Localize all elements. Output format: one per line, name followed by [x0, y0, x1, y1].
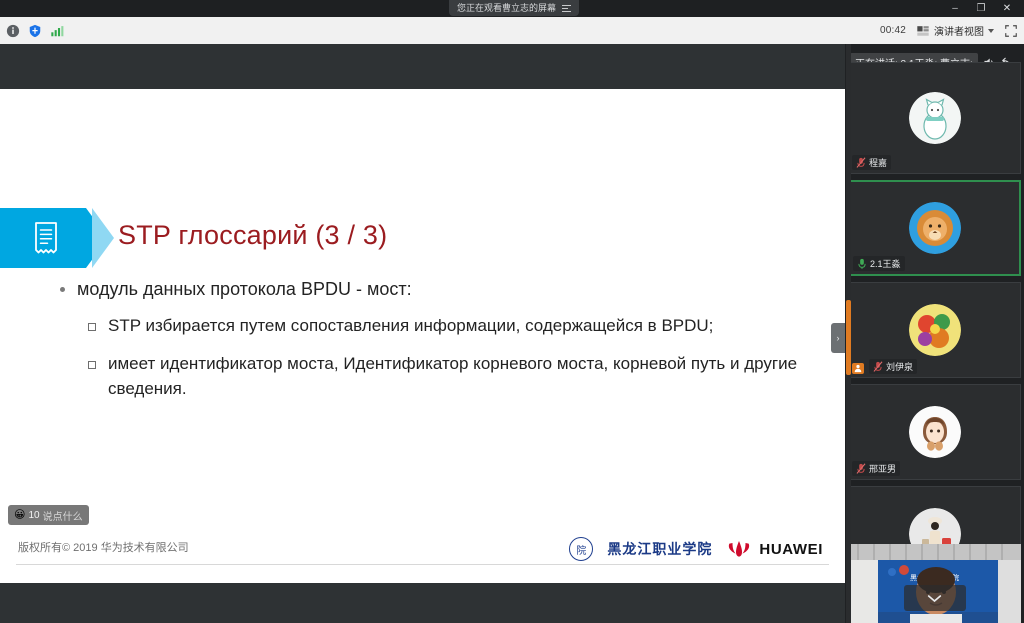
- hamburger-menu-icon[interactable]: [562, 5, 571, 12]
- participant-name: 2.1王淼: [870, 257, 901, 270]
- participant-name-badge: 刘伊泉: [869, 359, 917, 374]
- mic-muted-icon: [856, 157, 866, 168]
- avatar: [909, 406, 961, 458]
- lion-avatar-icon: [909, 202, 961, 254]
- speaker-view-icon: [916, 24, 930, 38]
- sidebar-collapse-handle[interactable]: ›: [831, 323, 845, 353]
- participants-sidebar[interactable]: 正在讲话: 2.1王淼; 曹立志;: [845, 44, 1024, 623]
- document-icon: [33, 222, 59, 254]
- chat-count: 10: [28, 510, 39, 521]
- avatar: [909, 92, 961, 144]
- school-seal-icon: 院: [569, 537, 593, 561]
- window-controls: – ❐ ✕: [942, 0, 1020, 17]
- girl-avatar-icon: [909, 406, 961, 458]
- hand-raised-icon: [852, 363, 864, 374]
- avatar: [909, 202, 961, 254]
- self-video-tile[interactable]: 黑龙江职业学院: [848, 544, 1021, 623]
- avatar: [909, 304, 961, 356]
- title-banner-chevron-outline: [92, 208, 114, 268]
- title-bar: 您正在观看曹立志的屏幕 – ❐ ✕: [0, 0, 1024, 17]
- bullet-square-icon: [88, 323, 96, 331]
- bullet-text: STP избирается путем сопоставления инфор…: [108, 314, 713, 339]
- participant-tile[interactable]: 邢亚男: [848, 384, 1021, 480]
- chevron-down-icon[interactable]: [988, 29, 994, 33]
- participant-name: 邢亚男: [869, 462, 896, 475]
- toolbar: 00:42 演讲者视图: [0, 17, 1024, 45]
- bullet-level1: модуль данных протокола BPDU - мост:: [60, 277, 800, 301]
- huawei-flower-icon: [726, 540, 752, 558]
- footer-logos: 院 黑龙江职业学院 HUAWEI: [569, 537, 823, 561]
- meeting-timer: 00:42: [880, 25, 906, 36]
- bullet-square-icon: [88, 361, 96, 369]
- shared-screen-stage[interactable]: STP глоссарий (3 / 3) модуль данных прот…: [0, 44, 845, 623]
- school-logo-text: 黑龙江职业学院: [607, 539, 712, 559]
- participant-name: 程嘉: [869, 156, 887, 169]
- raised-hand-glyph: [853, 364, 863, 373]
- participant-tiles: 程嘉: [845, 44, 1024, 623]
- chevron-down-icon: [927, 594, 942, 603]
- live-video-feed: 黑龙江职业学院: [848, 544, 1021, 623]
- participant-name-badge: 程嘉: [852, 155, 891, 170]
- footer-divider: [16, 564, 829, 565]
- sidebar-scrollbar-thumb[interactable]: [846, 300, 851, 375]
- bullet-level2: имеет идентификатор моста, Идентификатор…: [88, 352, 800, 401]
- view-mode-label: 演讲者视图: [934, 23, 984, 38]
- floral-avatar-icon: [909, 304, 961, 356]
- mic-muted-icon: [856, 463, 866, 474]
- bullet-text: модуль данных протокола BPDU - мост:: [77, 277, 412, 301]
- mic-on-icon: [857, 258, 867, 269]
- cat-avatar-icon: [909, 92, 961, 144]
- fullscreen-icon[interactable]: [1004, 24, 1018, 38]
- chat-input-overlay[interactable]: 😀 10 说点什么: [8, 505, 89, 525]
- huawei-logo: HUAWEI: [726, 540, 823, 558]
- page-title: STP глоссарий (3 / 3): [118, 220, 387, 251]
- participant-name: 刘伊泉: [886, 360, 913, 373]
- participant-tile[interactable]: 刘伊泉: [848, 282, 1021, 378]
- chat-placeholder[interactable]: 说点什么: [43, 508, 83, 523]
- slide-body: модуль данных протокола BPDU - мост: STP…: [60, 277, 800, 401]
- shield-icon[interactable]: [28, 24, 42, 38]
- collapse-chevron-icon: ›: [837, 333, 840, 343]
- toolbar-left-icons: [6, 17, 64, 44]
- view-mode-selector[interactable]: 演讲者视图: [916, 23, 994, 38]
- signal-bars-icon[interactable]: [50, 24, 64, 38]
- participant-tile[interactable]: 程嘉: [848, 62, 1021, 174]
- bullet-dot-icon: [60, 287, 65, 292]
- meeting-window: 您正在观看曹立志的屏幕 – ❐ ✕: [0, 0, 1024, 623]
- participant-name-badge: 2.1王淼: [853, 256, 905, 271]
- minimize-button[interactable]: –: [942, 0, 968, 17]
- restore-button[interactable]: ❐: [968, 0, 994, 17]
- huawei-wordmark: HUAWEI: [759, 541, 823, 558]
- mic-muted-icon: [873, 361, 883, 372]
- sharing-notice-pill[interactable]: 您正在观看曹立志的屏幕: [449, 0, 579, 16]
- slide-canvas: STP глоссарий (3 / 3) модуль данных прот…: [0, 89, 845, 583]
- participant-tile-active[interactable]: 2.1王淼: [848, 180, 1021, 276]
- toolbar-right-controls: 00:42 演讲者视图: [880, 17, 1018, 44]
- bullet-text: имеет идентификатор моста, Идентификатор…: [108, 352, 798, 401]
- sharing-notice-text: 您正在观看曹立志的屏幕: [457, 4, 556, 13]
- bullet-level2: STP избирается путем сопоставления инфор…: [88, 314, 800, 339]
- info-icon[interactable]: [6, 24, 20, 38]
- close-button[interactable]: ✕: [994, 0, 1020, 17]
- copyright-text: 版权所有© 2019 华为技术有限公司: [18, 539, 189, 555]
- participant-name-badge: 邢亚男: [852, 461, 900, 476]
- expand-video-button[interactable]: [904, 585, 966, 611]
- emoji-icon[interactable]: 😀: [14, 510, 25, 521]
